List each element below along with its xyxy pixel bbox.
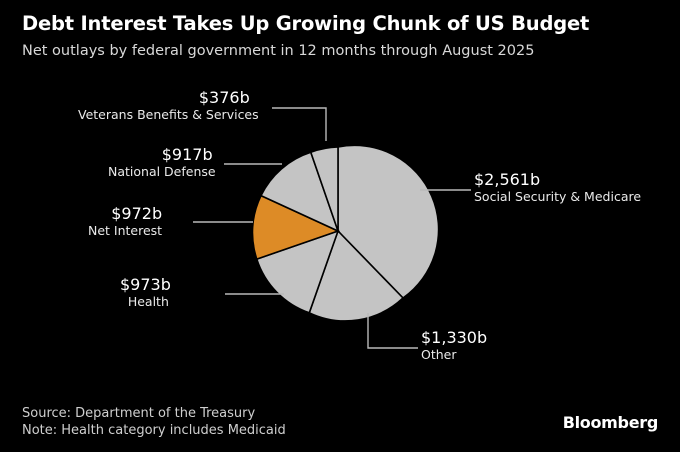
chart-root: Debt Interest Takes Up Growing Chunk of … <box>0 0 680 452</box>
label-other-value: $1,330b <box>421 328 487 347</box>
label-health-value: $973b <box>120 275 233 294</box>
label-net-interest: $972b Net Interest <box>88 204 222 239</box>
label-other: $1,330b Other <box>421 328 487 363</box>
label-other-category: Other <box>421 347 487 363</box>
note-text: Note: Health category includes Medicaid <box>22 422 286 440</box>
label-social-security: $2,561b Social Security & Medicare <box>474 170 641 205</box>
label-veterans-category: Veterans Benefits & Services <box>78 107 259 123</box>
label-social-security-value: $2,561b <box>474 170 641 189</box>
leader-line-veterans <box>272 108 326 141</box>
label-national-defense: $917b National Defense <box>108 145 275 180</box>
label-health: $973b Health <box>120 275 233 310</box>
label-national-defense-category: National Defense <box>108 164 275 180</box>
label-social-security-category: Social Security & Medicare <box>474 189 641 205</box>
label-national-defense-value: $917b <box>108 145 275 164</box>
label-net-interest-category: Net Interest <box>88 223 222 239</box>
source-text: Source: Department of the Treasury <box>22 405 255 423</box>
label-veterans-value: $376b <box>190 88 259 107</box>
label-health-category: Health <box>120 294 233 310</box>
label-net-interest-value: $972b <box>88 204 222 223</box>
bloomberg-logo: Bloomberg <box>563 413 658 432</box>
label-veterans: $376b Veterans Benefits & Services <box>78 88 259 123</box>
leader-line-other <box>368 313 418 348</box>
